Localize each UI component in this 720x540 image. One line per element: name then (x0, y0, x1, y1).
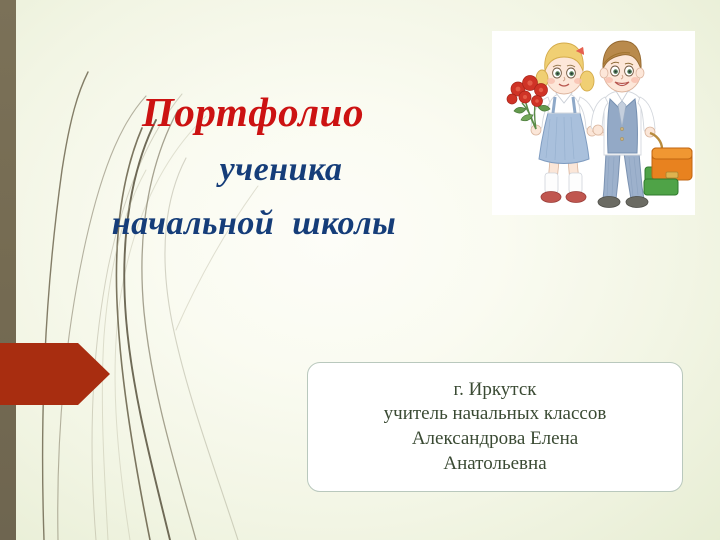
slide-title: Портфолио ученика начальной школы (28, 92, 480, 241)
author-line-name: Александрова Елена (412, 427, 578, 452)
left-accent-bar (0, 0, 16, 540)
author-line-role: учитель начальных классов (384, 402, 607, 427)
title-line-student: ученика (82, 153, 480, 187)
title-line-primary-school: начальной школы (28, 207, 480, 241)
author-line-patronymic: Анатольевна (443, 452, 546, 477)
author-info-textbox: г. Иркутск учитель начальных классов Але… (307, 362, 683, 492)
schoolchildren-illustration (492, 31, 695, 215)
presentation-slide: Портфолио ученика начальной школы (0, 0, 720, 540)
accent-arrow-shape (0, 343, 110, 405)
title-line-portfolio: Портфолио (26, 92, 480, 133)
grass-decoration (0, 0, 320, 540)
author-line-city: г. Иркутск (453, 378, 536, 403)
schoolchildren-clipart (492, 31, 695, 215)
